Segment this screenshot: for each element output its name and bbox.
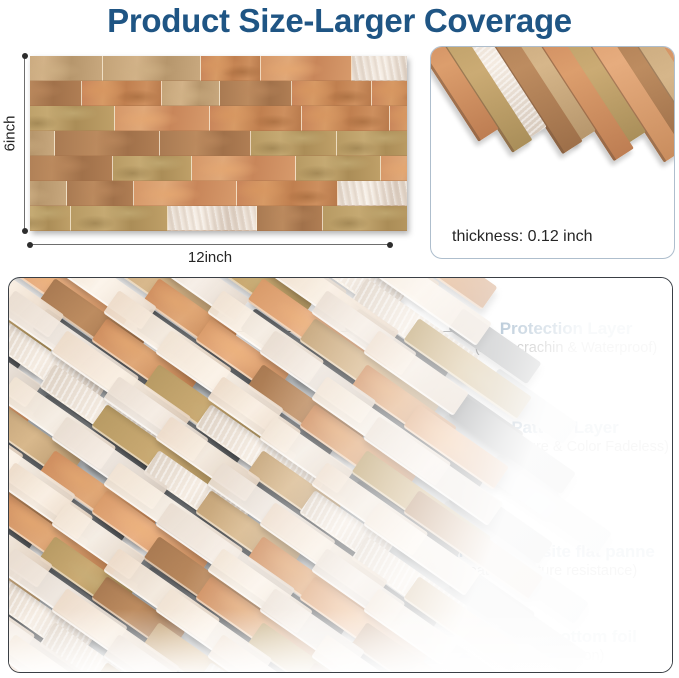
tile [30, 106, 115, 131]
tile-row [30, 131, 407, 156]
tile [192, 156, 296, 181]
width-dimension-label: 12inch [30, 249, 390, 266]
tile [160, 131, 251, 156]
tile [55, 131, 160, 156]
layer-slat [363, 330, 469, 416]
tile [372, 81, 407, 106]
tile [30, 156, 113, 181]
tile [302, 106, 390, 131]
tile [220, 81, 292, 106]
tile [292, 81, 372, 106]
tile [30, 181, 67, 206]
layer-structure-panel: Protection Layer (Anti-scrachin & Waterp… [8, 277, 673, 673]
tile [113, 156, 192, 181]
width-dimension-line [30, 244, 390, 245]
tile-row [30, 206, 407, 231]
tile [162, 81, 220, 106]
product-size-panel: 6inch 12inch [0, 45, 420, 270]
tile-row [30, 81, 407, 106]
tile [261, 56, 352, 81]
page-title: Product Size-Larger Coverage [0, 1, 679, 41]
tile [30, 56, 103, 81]
tile [30, 81, 82, 106]
height-dimension-label: 6inch [1, 116, 18, 152]
tile-row [30, 106, 407, 131]
tile [296, 156, 381, 181]
tile [82, 81, 162, 106]
tile [134, 181, 237, 206]
tile [210, 106, 302, 131]
tile [257, 206, 323, 231]
tile [352, 56, 407, 81]
tile [67, 181, 134, 206]
tile [103, 56, 201, 81]
thickness-caption: thickness: 0.12 inch [449, 227, 596, 247]
layer-protect [9, 278, 672, 672]
thickness-panel: thickness: 0.12 inch [430, 46, 675, 259]
height-dimension-line [24, 56, 25, 231]
tile [115, 106, 210, 131]
tile [381, 156, 407, 181]
tile [251, 131, 337, 156]
tile [390, 106, 407, 131]
tile [201, 56, 261, 81]
tile [30, 131, 55, 156]
tile [71, 206, 168, 231]
tile [323, 206, 407, 231]
tile-edge-stack-image [430, 46, 675, 233]
tile [168, 206, 257, 231]
layer-slat [363, 588, 458, 666]
tile [337, 131, 407, 156]
tile [30, 206, 71, 231]
tile [338, 181, 407, 206]
tile-row [30, 181, 407, 206]
tile-row [30, 156, 407, 181]
exploded-layer-image [9, 278, 672, 672]
tile [237, 181, 338, 206]
tile-row [30, 56, 407, 81]
tile-sheet-image [30, 56, 407, 231]
